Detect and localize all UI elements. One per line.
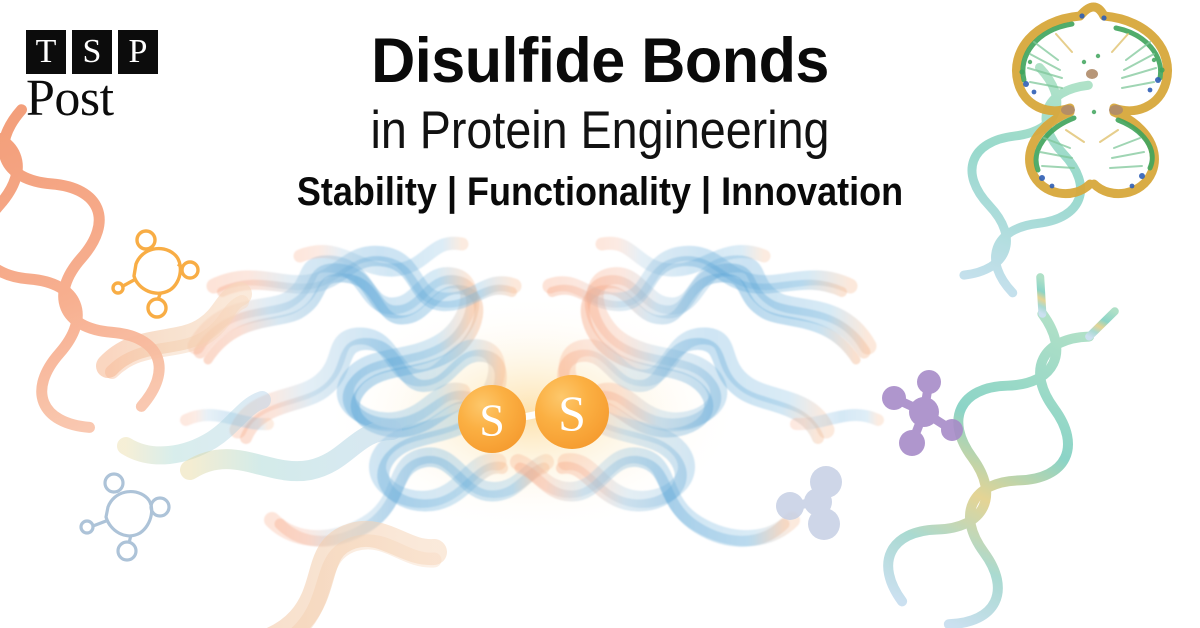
molecule-icon-purple <box>882 370 963 456</box>
headline-block: Disulfide Bonds in Protein Engineering S… <box>0 30 1200 214</box>
protein-ribbon-right <box>518 243 878 541</box>
protein-tail-bottom-left <box>170 534 434 628</box>
banner-root: S S <box>0 0 1200 628</box>
page-subtitle: in Protein Engineering <box>72 101 1128 160</box>
page-title: Disulfide Bonds <box>18 30 1182 93</box>
page-tagline: Stability | Functionality | Innovation <box>60 170 1140 214</box>
molecule-icon-blue <box>81 474 169 560</box>
dna-helix-right-bottom <box>874 269 1133 628</box>
molecule-icon-orange <box>113 231 198 317</box>
sulfur-atom-left: S <box>458 385 526 453</box>
disulfide-bond-line <box>505 410 562 421</box>
center-glow <box>322 294 742 534</box>
protein-tail-bottom-center <box>190 430 392 471</box>
protein-ribbon-left <box>186 243 546 541</box>
sulfur-right-label: S <box>558 385 586 441</box>
sulfur-atom-right: S <box>535 375 609 449</box>
molecule-icon-lavender <box>776 466 842 540</box>
sulfur-left-label: S <box>479 395 505 446</box>
protein-tail-left <box>108 294 262 455</box>
